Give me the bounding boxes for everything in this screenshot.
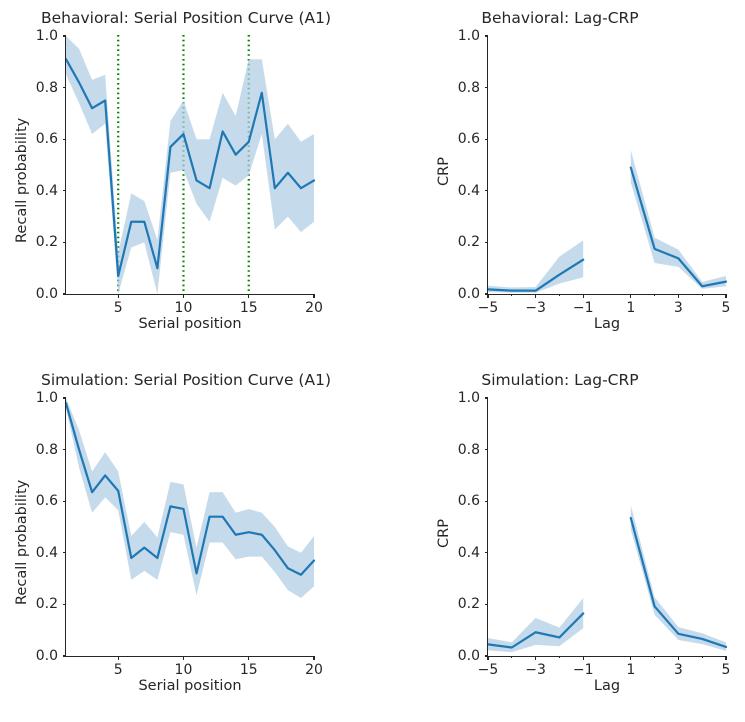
y-tick-mark <box>63 604 67 605</box>
panel-title-simulation-spc: Simulation: Serial Position Curve (A1) <box>0 370 372 390</box>
panel-title-behavioral-spc: Behavioral: Serial Position Curve (A1) <box>0 8 372 28</box>
y-tick-label: 0.2 <box>436 597 480 611</box>
y-tick-mark <box>485 190 489 191</box>
figure-canvas: Behavioral: Serial Position Curve (A1) 0… <box>0 0 745 722</box>
x-tick-mark <box>118 656 119 660</box>
y-axis-spine-simulation-spc <box>65 398 66 656</box>
y-tick-mark <box>63 242 67 243</box>
x-tick-mark <box>183 656 184 660</box>
y-tick-label: 0.0 <box>436 287 480 301</box>
plot-area-behavioral-lag-crp <box>488 36 726 294</box>
x-tick-mark-minor <box>702 294 703 296</box>
y-tick-label: 1.0 <box>14 391 58 405</box>
x-tick-mark <box>248 294 249 298</box>
x-tick-mark-minor <box>511 656 512 658</box>
x-tick-mark <box>583 656 584 660</box>
x-tick-label: 5 <box>93 663 143 677</box>
x-tick-label: 3 <box>653 663 703 677</box>
x-tick-label: −1 <box>558 301 608 315</box>
x-axis-label-behavioral-lag-crp: Lag <box>488 316 726 332</box>
x-tick-mark <box>313 294 314 298</box>
x-tick-mark-minor <box>559 656 560 658</box>
y-tick-mark <box>63 35 67 36</box>
x-tick-mark-minor <box>654 656 655 658</box>
plot-area-simulation-spc <box>66 398 314 656</box>
x-tick-mark <box>725 294 726 298</box>
y-tick-mark <box>63 552 67 553</box>
series-behavioral-spc <box>66 36 314 294</box>
y-tick-label: 0.8 <box>436 443 480 457</box>
x-axis-spine-simulation-spc <box>65 656 314 657</box>
x-tick-label: 3 <box>653 301 703 315</box>
x-tick-label: 1 <box>606 301 656 315</box>
x-axis-label-simulation-spc: Serial position <box>66 678 314 694</box>
y-tick-mark <box>63 449 67 450</box>
x-tick-mark <box>678 656 679 660</box>
y-tick-mark <box>485 87 489 88</box>
series-simulation-spc <box>66 398 314 656</box>
plot-area-behavioral-spc <box>66 36 314 294</box>
panel-title-simulation-lag-crp: Simulation: Lag-CRP <box>410 370 710 390</box>
x-axis-spine-simulation-lag-crp <box>487 656 726 657</box>
series-behavioral-lag-crp <box>488 36 726 294</box>
x-tick-label: 15 <box>224 663 274 677</box>
x-tick-mark-minor <box>511 294 512 296</box>
y-tick-label: 0.6 <box>436 494 480 508</box>
y-tick-mark <box>63 397 67 398</box>
y-tick-label: 0.8 <box>14 81 58 95</box>
y-tick-mark <box>63 190 67 191</box>
x-tick-mark <box>678 294 679 298</box>
y-tick-label: 0.8 <box>14 443 58 457</box>
panel-title-behavioral-lag-crp: Behavioral: Lag-CRP <box>410 8 710 28</box>
x-axis-label-simulation-lag-crp: Lag <box>488 678 726 694</box>
x-tick-mark <box>583 294 584 298</box>
y-tick-label: 1.0 <box>14 29 58 43</box>
x-axis-spine-behavioral-lag-crp <box>487 294 726 295</box>
x-tick-label: −3 <box>511 663 561 677</box>
x-tick-mark-minor <box>559 294 560 296</box>
y-tick-label: 0.0 <box>14 649 58 663</box>
x-tick-mark <box>313 656 314 660</box>
x-tick-mark-minor <box>702 656 703 658</box>
x-tick-mark <box>248 656 249 660</box>
x-tick-label: 1 <box>606 663 656 677</box>
x-axis-label-behavioral-spc: Serial position <box>66 316 314 332</box>
x-tick-label: −5 <box>463 301 513 315</box>
y-axis-label-simulation-lag-crp: CRP <box>436 519 452 548</box>
y-axis-label-simulation-spc: Recall probability <box>14 480 30 605</box>
x-tick-label: −5 <box>463 663 513 677</box>
plot-area-simulation-lag-crp <box>488 398 726 656</box>
y-axis-label-behavioral-spc: Recall probability <box>14 118 30 243</box>
x-tick-mark <box>487 294 488 298</box>
x-tick-label: −1 <box>558 663 608 677</box>
y-tick-mark <box>63 139 67 140</box>
y-tick-label: 0.0 <box>436 649 480 663</box>
x-tick-mark <box>535 294 536 298</box>
y-axis-label-behavioral-lag-crp: CRP <box>436 157 452 186</box>
x-axis-spine-behavioral-spc <box>65 294 314 295</box>
y-tick-mark <box>485 501 489 502</box>
panel-behavioral-spc: Behavioral: Serial Position Curve (A1) 0… <box>0 6 372 356</box>
x-tick-label: −3 <box>511 301 561 315</box>
x-tick-mark <box>535 656 536 660</box>
y-axis-spine-behavioral-spc <box>65 36 66 294</box>
x-tick-label: 20 <box>289 301 339 315</box>
y-tick-mark <box>485 449 489 450</box>
x-tick-mark <box>183 294 184 298</box>
y-axis-spine-simulation-lag-crp <box>487 398 488 656</box>
y-tick-mark <box>485 604 489 605</box>
y-tick-label: 1.0 <box>436 29 480 43</box>
y-tick-mark <box>485 35 489 36</box>
x-tick-label: 10 <box>158 663 208 677</box>
x-tick-mark <box>630 656 631 660</box>
x-tick-label: 5 <box>93 301 143 315</box>
y-tick-label: 0.8 <box>436 81 480 95</box>
x-tick-label: 15 <box>224 301 274 315</box>
y-tick-mark <box>485 552 489 553</box>
x-tick-label: 5 <box>701 301 745 315</box>
y-tick-mark <box>485 139 489 140</box>
y-tick-mark <box>63 87 67 88</box>
y-tick-label: 0.0 <box>14 287 58 301</box>
y-axis-spine-behavioral-lag-crp <box>487 36 488 294</box>
y-tick-label: 1.0 <box>436 391 480 405</box>
x-tick-label: 20 <box>289 663 339 677</box>
x-tick-mark <box>487 656 488 660</box>
x-tick-mark-minor <box>654 294 655 296</box>
x-tick-mark <box>118 294 119 298</box>
panel-simulation-lag-crp: Simulation: Lag-CRP 0.00.20.40.60.81.0−5… <box>400 368 745 718</box>
x-tick-mark <box>725 656 726 660</box>
y-tick-mark <box>63 655 67 656</box>
y-tick-mark <box>485 397 489 398</box>
y-tick-mark <box>63 293 67 294</box>
panel-simulation-spc: Simulation: Serial Position Curve (A1) 0… <box>0 368 372 718</box>
y-tick-label: 0.2 <box>436 235 480 249</box>
panel-behavioral-lag-crp: Behavioral: Lag-CRP 0.00.20.40.60.81.0−5… <box>400 6 745 356</box>
y-tick-mark <box>63 501 67 502</box>
y-tick-label: 0.6 <box>436 132 480 146</box>
x-tick-mark <box>630 294 631 298</box>
y-tick-mark <box>485 242 489 243</box>
series-simulation-lag-crp <box>488 398 726 656</box>
x-tick-label: 5 <box>701 663 745 677</box>
x-tick-label: 10 <box>158 301 208 315</box>
